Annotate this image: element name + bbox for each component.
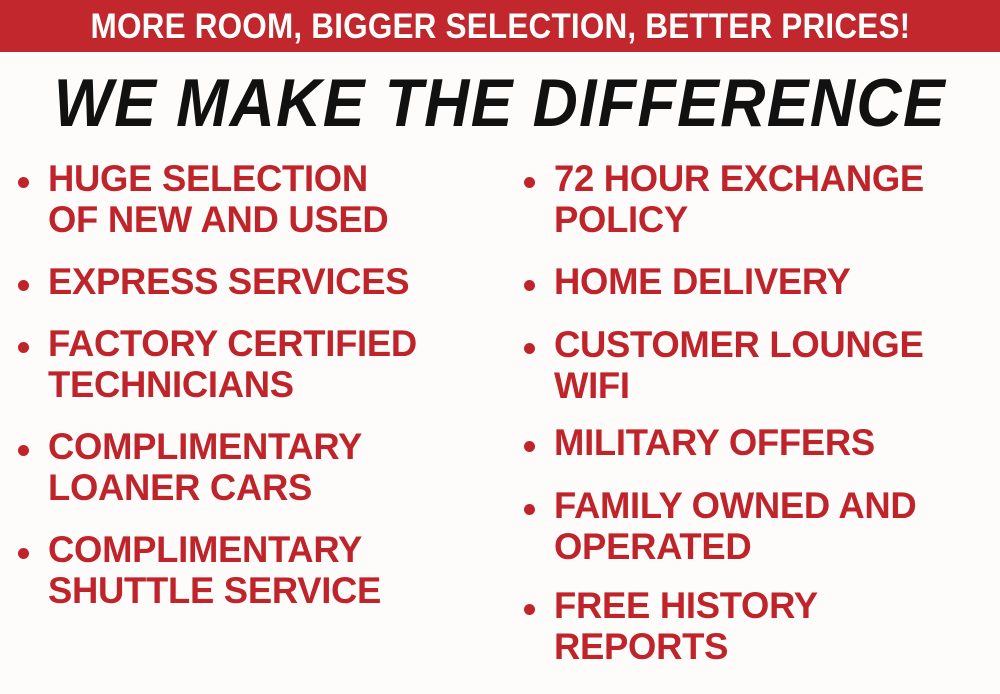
bullet-dot-icon xyxy=(524,280,535,291)
list-item-label: 72 HOUR EXCHANGE POLICY xyxy=(554,158,924,240)
list-item-label: COMPLIMENTARY SHUTTLE SERVICE xyxy=(48,529,381,611)
list-item: CUSTOMER LOUNGE WIFI xyxy=(524,324,994,406)
list-item-label: HUGE SELECTION OF NEW AND USED xyxy=(48,158,388,240)
list-item: EXPRESS SERVICES xyxy=(18,261,488,302)
page-title: WE MAKE THE DIFFERENCE xyxy=(54,69,946,137)
promotional-poster: MORE ROOM, BIGGER SELECTION, BETTER PRIC… xyxy=(0,0,1000,694)
list-item-label: FACTORY CERTIFIED TECHNICIANS xyxy=(48,323,417,405)
bullet-dot-icon xyxy=(18,445,29,456)
list-item-label: CUSTOMER LOUNGE WIFI xyxy=(554,324,923,406)
top-banner: MORE ROOM, BIGGER SELECTION, BETTER PRIC… xyxy=(0,0,1000,52)
bullet-dot-icon xyxy=(524,441,535,452)
top-banner-text: MORE ROOM, BIGGER SELECTION, BETTER PRIC… xyxy=(90,9,910,44)
list-item: FREE HISTORY REPORTS xyxy=(524,585,994,667)
list-item-label: COMPLIMENTARY LOANER CARS xyxy=(48,426,362,508)
feature-columns: HUGE SELECTION OF NEW AND USED EXPRESS S… xyxy=(0,158,1000,694)
bullet-dot-icon xyxy=(18,177,29,188)
list-item: MILITARY OFFERS xyxy=(524,422,994,463)
list-item: FAMILY OWNED AND OPERATED xyxy=(524,485,994,567)
list-item: FACTORY CERTIFIED TECHNICIANS xyxy=(18,323,488,405)
list-item-label: HOME DELIVERY xyxy=(554,261,851,302)
list-item: HUGE SELECTION OF NEW AND USED xyxy=(18,158,488,240)
bullet-dot-icon xyxy=(524,504,535,515)
list-item-label: FAMILY OWNED AND OPERATED xyxy=(554,485,916,567)
bullet-dot-icon xyxy=(524,343,535,354)
bullet-dot-icon xyxy=(524,177,535,188)
list-item: HOME DELIVERY xyxy=(524,261,994,302)
list-item: COMPLIMENTARY SHUTTLE SERVICE xyxy=(18,529,488,611)
headline-container: WE MAKE THE DIFFERENCE xyxy=(0,64,1000,142)
bullet-dot-icon xyxy=(524,604,535,615)
bullet-dot-icon xyxy=(18,548,29,559)
bullet-dot-icon xyxy=(18,342,29,353)
list-item: COMPLIMENTARY LOANER CARS xyxy=(18,426,488,508)
list-item: 72 HOUR EXCHANGE POLICY xyxy=(524,158,994,240)
list-item-label: EXPRESS SERVICES xyxy=(48,261,409,302)
feature-column-right: 72 HOUR EXCHANGE POLICY HOME DELIVERY CU… xyxy=(524,158,994,687)
bullet-dot-icon xyxy=(18,280,29,291)
list-item-label: FREE HISTORY REPORTS xyxy=(554,585,818,667)
feature-column-left: HUGE SELECTION OF NEW AND USED EXPRESS S… xyxy=(18,158,488,631)
list-item-label: MILITARY OFFERS xyxy=(554,422,875,463)
